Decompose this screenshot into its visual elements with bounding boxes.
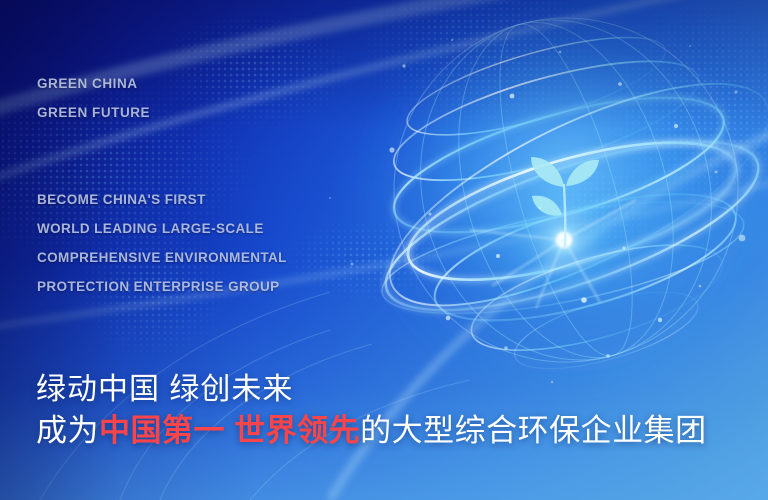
headline-line-2: 成为中国第一 世界领先的大型综合环保企业集团 (36, 410, 707, 452)
mission-statement: BECOME CHINA'S FIRST WORLD LEADING LARGE… (37, 185, 287, 301)
headline-line-1: 绿动中国 绿创未来 (36, 370, 707, 410)
eyebrow-line-1: GREEN CHINA (37, 69, 150, 98)
headline-block: 绿动中国 绿创未来 成为中国第一 世界领先的大型综合环保企业集团 (36, 370, 707, 452)
headline-suffix: 的大型综合环保企业集团 (360, 413, 707, 448)
mission-line-4: PROTECTION ENTERPRISE GROUP (37, 272, 287, 301)
eyebrow-line-2: GREEN FUTURE (37, 98, 150, 127)
green-china-banner: GREEN CHINA GREEN FUTURE BECOME CHINA'S … (0, 0, 768, 500)
globe-sphere (351, 0, 768, 405)
mission-line-1: BECOME CHINA'S FIRST (37, 185, 287, 214)
headline-highlight: 中国第一 世界领先 (99, 413, 360, 448)
eyebrow-tagline: GREEN CHINA GREEN FUTURE (37, 69, 150, 127)
mission-line-3: COMPREHENSIVE ENVIRONMENTAL (37, 243, 287, 272)
mission-line-2: WORLD LEADING LARGE-SCALE (37, 214, 287, 243)
headline-prefix: 成为 (36, 413, 99, 448)
